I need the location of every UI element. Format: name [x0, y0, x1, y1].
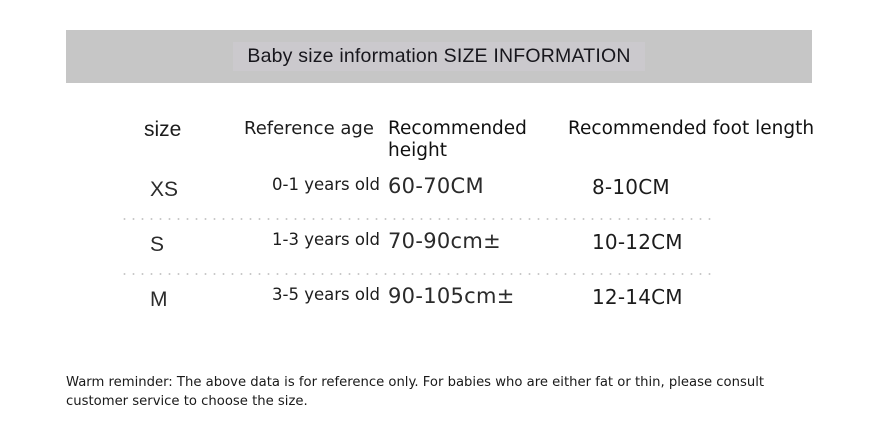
warm-reminder-note: Warm reminder: The above data is for ref… [66, 374, 808, 411]
table-header-row: size Reference age Recommended height Re… [120, 118, 820, 166]
recommended-foot-length-value: 8-10CM [568, 166, 670, 199]
table-row: S 1-3 years old 70-90cm± 10-12CM [120, 221, 820, 276]
recommended-foot-length-value: 10-12CM [568, 221, 683, 254]
title-inner-plate: Baby size information SIZE INFORMATION [233, 42, 644, 71]
row-cell-age: 1-3 years old [238, 221, 388, 249]
reference-age-value: 1-3 years old [238, 221, 380, 249]
size-chart-sheet: Baby size information SIZE INFORMATION s… [0, 0, 876, 439]
recommended-foot-length-value: 12-14CM [568, 276, 683, 309]
page-title: Baby size information SIZE INFORMATION [247, 45, 630, 67]
row-cell-age: 0-1 years old [238, 166, 388, 194]
row-cell-size: S [120, 221, 238, 257]
size-value: XS [120, 166, 178, 202]
row-cell-foot: 12-14CM [568, 276, 818, 309]
column-header-recommended-height: Recommended height [388, 118, 568, 162]
column-header-recommended-foot-length: Recommended foot length [568, 118, 814, 140]
table-row: M 3-5 years old 90-105cm± 12-14CM [120, 276, 820, 331]
reference-age-value: 0-1 years old [238, 166, 380, 194]
row-divider [120, 273, 714, 275]
recommended-height-value: 70-90cm± [388, 221, 501, 253]
title-band: Baby size information SIZE INFORMATION [66, 30, 812, 83]
size-value: M [120, 276, 168, 312]
header-cell-age: Reference age [238, 118, 388, 139]
reference-age-value: 3-5 years old [238, 276, 380, 304]
recommended-height-value: 90-105cm± [388, 276, 515, 308]
table-row: XS 0-1 years old 60-70CM 8-10CM [120, 166, 820, 221]
row-cell-size: XS [120, 166, 238, 202]
row-cell-height: 90-105cm± [388, 276, 568, 308]
column-header-reference-age: Reference age [238, 118, 374, 139]
row-cell-foot: 10-12CM [568, 221, 818, 254]
header-cell-foot: Recommended foot length [568, 118, 818, 140]
column-header-size: size [120, 118, 181, 142]
row-cell-height: 60-70CM [388, 166, 568, 198]
row-cell-height: 70-90cm± [388, 221, 568, 253]
recommended-height-value: 60-70CM [388, 166, 484, 198]
header-cell-height: Recommended height [388, 118, 568, 162]
header-cell-size: size [120, 118, 238, 142]
row-cell-foot: 8-10CM [568, 166, 818, 199]
size-value: S [120, 221, 164, 257]
row-divider [120, 218, 714, 220]
row-cell-age: 3-5 years old [238, 276, 388, 304]
size-table: size Reference age Recommended height Re… [120, 118, 820, 331]
row-cell-size: M [120, 276, 238, 312]
